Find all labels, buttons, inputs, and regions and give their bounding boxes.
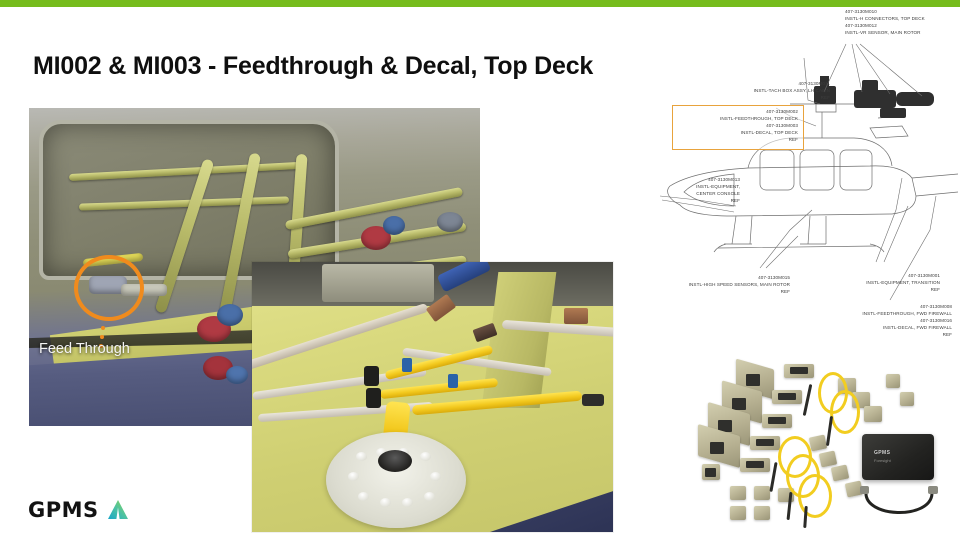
cube-fitting bbox=[886, 374, 900, 388]
plate-bump bbox=[420, 452, 431, 461]
plate-bump bbox=[424, 492, 435, 501]
feedthrough-plate-closeup-photo bbox=[252, 262, 613, 532]
callout-m011: 407-3130M011 INSTL-TACH BOX ASSY, LH CAB… bbox=[700, 80, 830, 101]
gpms-logo: GPMS bbox=[28, 498, 130, 522]
page-title: MI002 & MI003 - Feedthrough & Decal, Top… bbox=[33, 52, 593, 81]
cube-fitting bbox=[900, 392, 914, 406]
cube-fitting bbox=[819, 450, 838, 467]
plate-bump bbox=[380, 498, 391, 507]
plate-bump bbox=[358, 492, 369, 501]
sensor-bracket-face bbox=[746, 374, 760, 386]
cable-lead bbox=[803, 506, 808, 528]
callout-m001: 407-3130M001 INSTL-EQUIPMENT, TRANSITION… bbox=[800, 272, 940, 293]
cube-fitting bbox=[809, 434, 828, 451]
cube-fitting bbox=[864, 406, 882, 422]
photo-fitting-blue bbox=[226, 366, 248, 384]
sensor-module-face bbox=[756, 439, 774, 446]
sensor-module-face bbox=[746, 461, 764, 468]
photo-fitting-blue bbox=[383, 216, 405, 235]
photo-fitting-grey bbox=[121, 284, 167, 296]
callout-m010-m012: 407-3130M010 INSTL-H CONNECTORS, TOP DEC… bbox=[845, 8, 925, 36]
plate-bump bbox=[356, 452, 367, 461]
foresight-mx-kit-photo: GPMS Foresight bbox=[700, 358, 950, 530]
sensor-module-face bbox=[768, 417, 786, 424]
callout-m015: 407-3130M015 INSTL-HIGH SPEED SENSORS, M… bbox=[622, 274, 790, 295]
yellow-cable-loop bbox=[798, 474, 832, 518]
cube-fitting bbox=[754, 506, 770, 520]
sensor-module-face bbox=[790, 367, 808, 374]
cable-lead bbox=[826, 416, 833, 446]
callout-m008-m016: 407-3130M008 INSTL-FEEDTHROUGH, FWD FIRE… bbox=[800, 303, 952, 339]
cable-lead bbox=[803, 384, 813, 416]
sensor-bracket-face bbox=[732, 398, 746, 410]
plate-bump bbox=[430, 472, 441, 481]
control-box-brand: GPMS bbox=[874, 450, 890, 456]
photo-cable-clamp bbox=[582, 394, 604, 406]
callout-m002-m003: 407-3130M002 INSTL-FEEDTHROUGH, TOP DECK… bbox=[676, 108, 798, 144]
plate-bump bbox=[348, 472, 359, 481]
sensor-module-face bbox=[705, 468, 716, 477]
yellow-cable-loop bbox=[830, 390, 860, 434]
callout-m013: 407-3130M013 INSTL-EQUIPMENT, CENTER CON… bbox=[634, 176, 740, 204]
feedthrough-grommet bbox=[378, 450, 412, 472]
photo-fitting-blue bbox=[217, 304, 243, 326]
feed-through-label: Feed Through bbox=[39, 341, 130, 357]
leader-dot bbox=[100, 335, 104, 339]
gpms-rotor-icon bbox=[106, 499, 130, 521]
photo-fitting-grey bbox=[437, 212, 463, 232]
cube-fitting bbox=[730, 486, 746, 500]
photo-cable-clamp bbox=[366, 388, 381, 408]
cube-fitting bbox=[754, 486, 770, 500]
gpms-logo-text: GPMS bbox=[28, 498, 99, 522]
photo-equipment-box bbox=[322, 264, 434, 302]
photo-copper-fitting bbox=[564, 308, 588, 324]
photo-cable-clamp bbox=[364, 366, 379, 386]
sensor-bracket-face bbox=[710, 442, 724, 454]
sensor-module-face bbox=[778, 393, 796, 400]
plate-bump bbox=[402, 498, 413, 507]
cube-fitting bbox=[831, 464, 850, 481]
cable-lead bbox=[769, 462, 777, 492]
cube-fitting bbox=[730, 506, 746, 520]
control-box-model: Foresight bbox=[874, 458, 891, 463]
foresight-control-box: GPMS Foresight bbox=[862, 434, 934, 480]
photo-blue-band bbox=[448, 374, 458, 388]
leader-dot bbox=[101, 326, 105, 330]
feedthrough-plate bbox=[326, 432, 466, 528]
photo-blue-band bbox=[402, 358, 412, 372]
patch-cable bbox=[858, 484, 944, 524]
